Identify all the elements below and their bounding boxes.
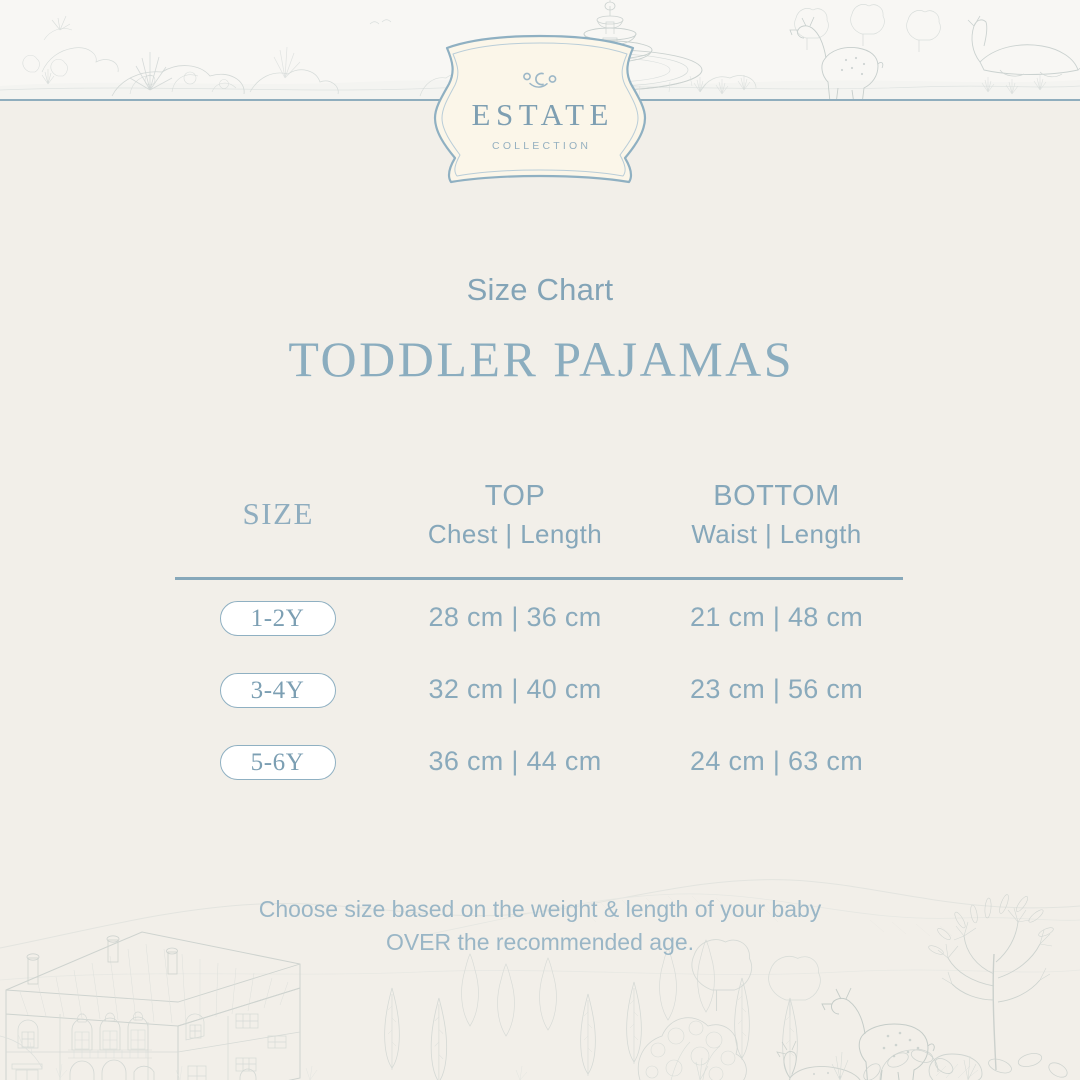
size-cell: 3-4Y <box>175 667 380 713</box>
column-header-bottom-label: BOTTOM <box>650 478 903 514</box>
sizing-advice-line-1: Choose size based on the weight & length… <box>0 893 1080 926</box>
sizing-advice-note: Choose size based on the weight & length… <box>0 893 1080 959</box>
size-chart-page: ESTATE COLLECTION Size Chart TODDLER PAJ… <box>0 0 1080 1080</box>
bottom-measurement-cell: 21 cm | 48 cm <box>650 597 903 637</box>
size-cell: 5-6Y <box>175 739 380 785</box>
column-header-top: TOP Chest | Length <box>380 478 650 551</box>
page-title: TODDLER PAJAMAS <box>0 330 1080 388</box>
table-row: 1-2Y 28 cm | 36 cm 21 cm | 48 cm <box>175 595 903 667</box>
column-header-bottom: BOTTOM Waist | Length <box>650 478 903 551</box>
column-header-bottom-sub: Waist | Length <box>650 518 903 551</box>
column-header-top-label: TOP <box>380 478 650 514</box>
table-row: 5-6Y 36 cm | 44 cm 24 cm | 63 cm <box>175 739 903 811</box>
sizing-advice-line-2: OVER the recommended age. <box>0 926 1080 959</box>
page-eyebrow: Size Chart <box>0 272 1080 308</box>
size-badge: 1-2Y <box>220 601 336 636</box>
table-row: 3-4Y 32 cm | 40 cm 23 cm | 56 cm <box>175 667 903 739</box>
size-badge: 5-6Y <box>220 745 336 780</box>
table-divider <box>175 577 903 580</box>
bottom-measurement-cell: 23 cm | 56 cm <box>650 669 903 709</box>
size-cell: 1-2Y <box>175 595 380 641</box>
size-badge: 3-4Y <box>220 673 336 708</box>
brand-badge: ESTATE COLLECTION <box>417 28 663 188</box>
bottom-measurement-cell: 24 cm | 63 cm <box>650 741 903 781</box>
column-header-size: SIZE <box>175 496 380 532</box>
column-header-top-sub: Chest | Length <box>380 518 650 551</box>
top-measurement-cell: 28 cm | 36 cm <box>380 597 650 637</box>
column-header-size-label: SIZE <box>175 496 380 532</box>
top-measurement-cell: 36 cm | 44 cm <box>380 741 650 781</box>
size-table-body: 1-2Y 28 cm | 36 cm 21 cm | 48 cm 3-4Y 32… <box>175 595 903 811</box>
size-table-header: SIZE TOP Chest | Length BOTTOM Waist | L… <box>175 478 903 558</box>
top-measurement-cell: 32 cm | 40 cm <box>380 669 650 709</box>
badge-cartouche-shape <box>417 28 663 188</box>
